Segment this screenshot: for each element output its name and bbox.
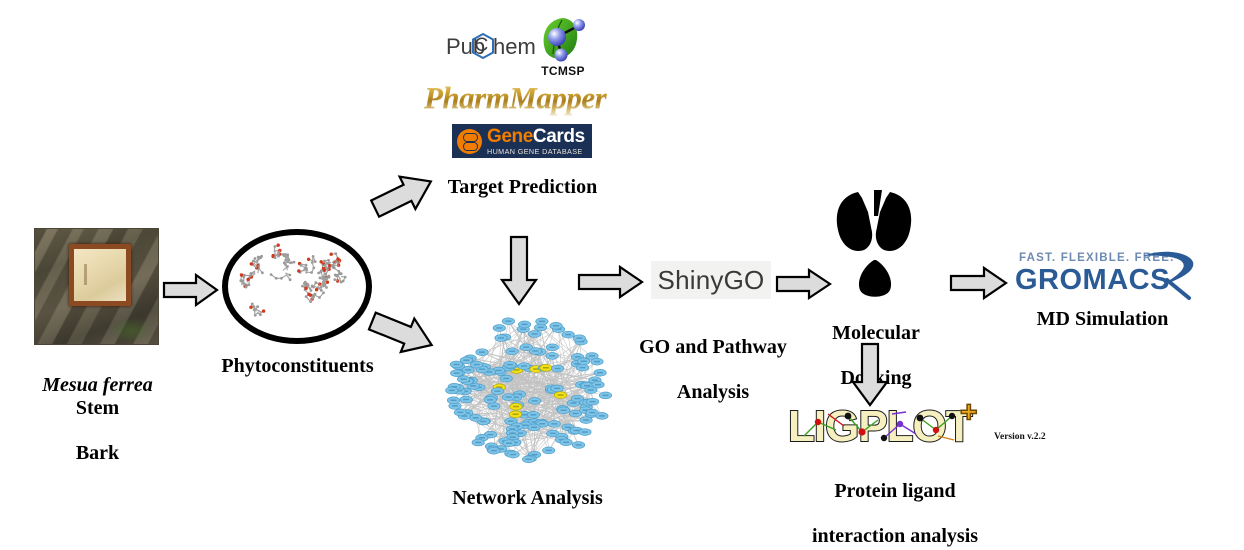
gromacs-logo: FAST. FLEXIBLE. FREE. GROMACS bbox=[1015, 252, 1190, 302]
arrow-network-to-go-pathway bbox=[578, 265, 644, 299]
genecards-logo: GeneCards HUMAN GENE DATABASE bbox=[452, 124, 592, 158]
docking-protein-icon bbox=[828, 190, 920, 300]
genecards-title: GeneCards bbox=[487, 127, 585, 146]
arrow-bark-to-phytoconstituents bbox=[163, 273, 219, 307]
mesua-ferrea-bark-photo bbox=[34, 228, 159, 345]
arrow-target-prediction-to-network bbox=[498, 235, 540, 307]
molecular-docking-logo bbox=[828, 190, 920, 300]
gromacs-swoosh-icon bbox=[1137, 250, 1199, 300]
tcmsp-logo: TCMSP bbox=[532, 14, 594, 82]
arrow-docking-to-protein-ligand bbox=[848, 342, 892, 408]
molecule-cluster-icon bbox=[228, 235, 366, 338]
bark-caption: Mesua ferrea Stem Bark bbox=[10, 352, 185, 464]
arrow-go-pathway-to-docking bbox=[776, 268, 832, 300]
genecards-wordmark: GeneCards HUMAN GENE DATABASE bbox=[487, 127, 585, 155]
ligplot-logo: LIGPLOT + Version v.2.2 bbox=[788, 402, 993, 454]
tcmsp-label: TCMSP bbox=[532, 64, 594, 78]
bark-species-name: Mesua ferrea bbox=[42, 374, 153, 396]
bark-caption-stem: Stem bbox=[76, 397, 119, 419]
go-pathway-caption: GO and Pathway Analysis bbox=[633, 314, 793, 404]
protein-ligand-line2: interaction analysis bbox=[812, 525, 978, 547]
pubchem-letter-c: C bbox=[475, 35, 489, 57]
dna-helix-icon bbox=[457, 129, 482, 154]
pubchem-logo: Pub C hem bbox=[446, 32, 524, 62]
target-prediction-caption: Target Prediction bbox=[415, 176, 630, 198]
protein-ligand-line1: Protein ligand bbox=[834, 480, 955, 502]
go-pathway-line1: GO and Pathway bbox=[639, 336, 787, 358]
ligplot-version-label: Version v.2.2 bbox=[994, 432, 1046, 442]
genecards-word-gene: Gene bbox=[487, 126, 533, 147]
genecards-subtitle: HUMAN GENE DATABASE bbox=[487, 148, 585, 155]
genecards-word-cards: Cards bbox=[533, 126, 585, 147]
go-pathway-line2: Analysis bbox=[677, 381, 749, 403]
network-analysis-graph bbox=[440, 312, 616, 477]
md-simulation-caption: MD Simulation bbox=[1010, 308, 1195, 330]
ligplot-plus-symbol: + bbox=[960, 396, 978, 430]
protein-ligand-caption: Protein ligand interaction analysis bbox=[775, 458, 1015, 548]
arrow-phyto-to-network bbox=[366, 305, 438, 361]
arrow-docking-to-md-simulation bbox=[950, 266, 1008, 300]
shinygo-logo: ShinyGO bbox=[651, 261, 771, 299]
bark-caption-bark: Bark bbox=[76, 442, 119, 464]
tcmsp-leaf-molecule-icon bbox=[532, 14, 594, 66]
network-analysis-caption: Network Analysis bbox=[430, 487, 625, 509]
shinygo-label: ShinyGO bbox=[658, 265, 765, 296]
phytoconstituents-circle bbox=[222, 229, 372, 344]
pharmmapper-logo: PharmMapper bbox=[424, 80, 624, 114]
bark-cut-region bbox=[69, 244, 131, 306]
pubchem-text-hem: hem bbox=[493, 34, 536, 60]
